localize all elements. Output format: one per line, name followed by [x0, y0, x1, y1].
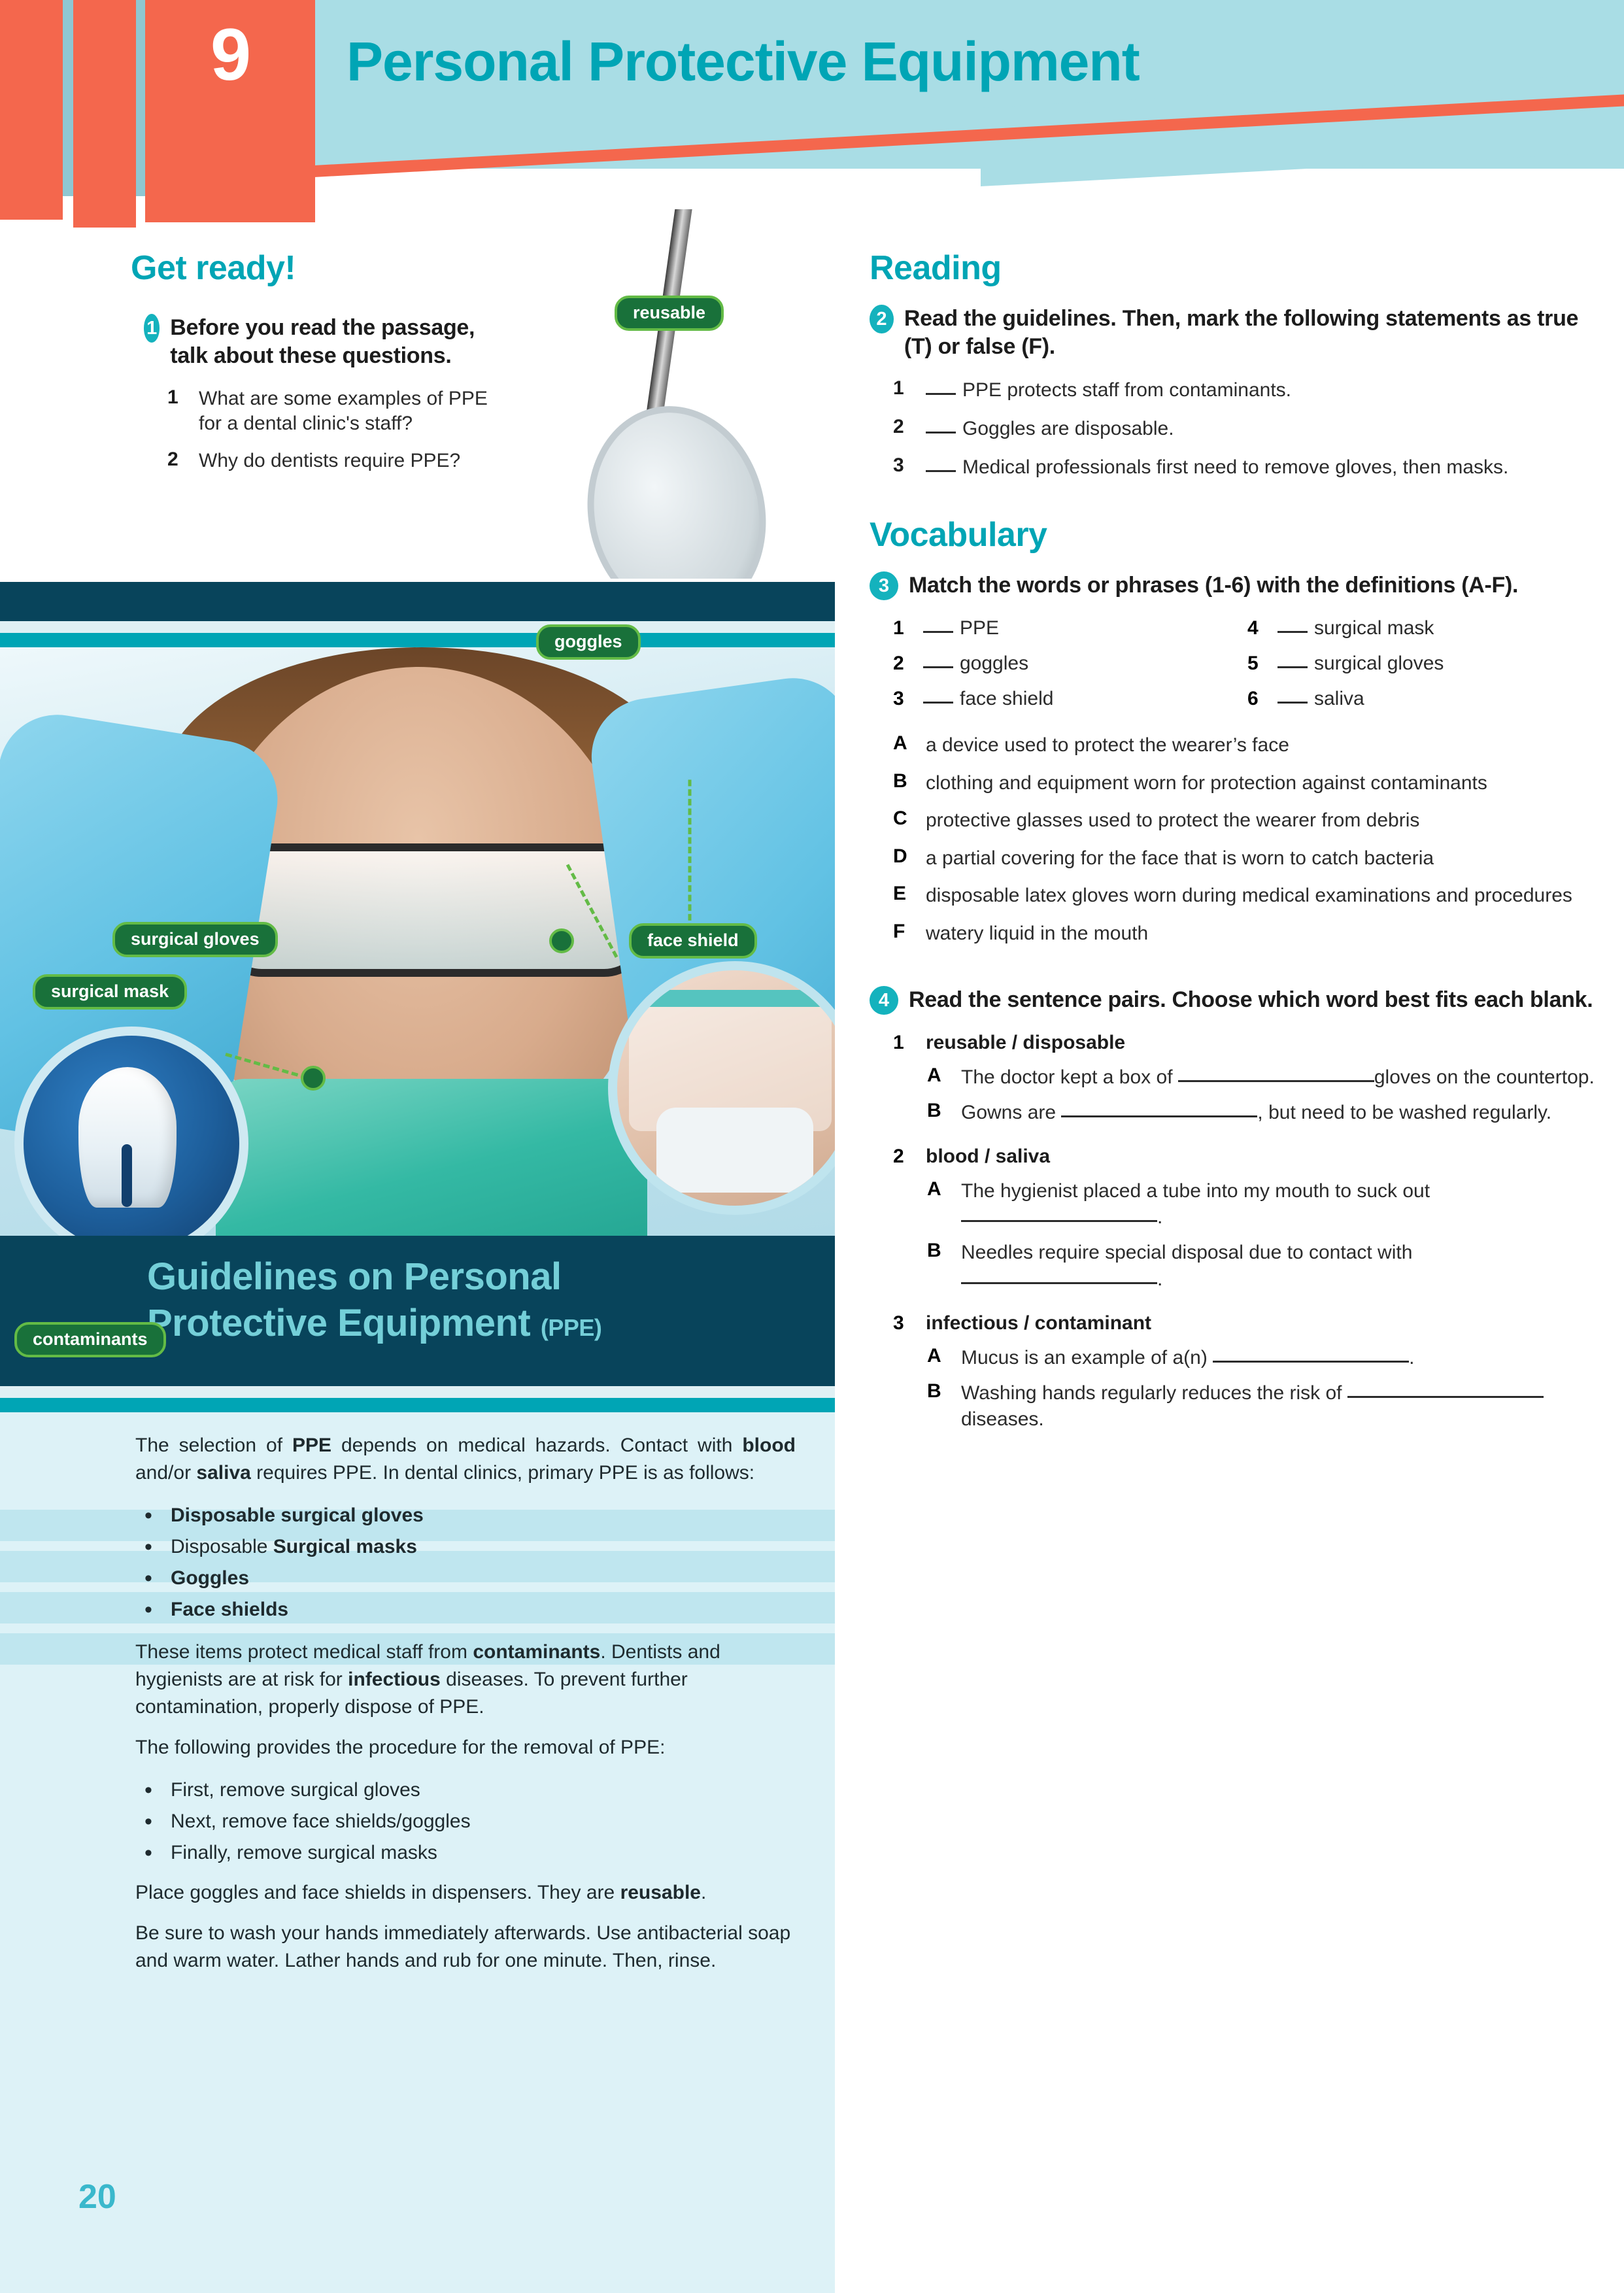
- vocabulary-terms: 1PPE 2goggles 3face shield 4surgical mas…: [893, 617, 1602, 723]
- passage-paragraph-2: These items protect medical staff from c…: [135, 1639, 796, 1721]
- tag-face-shield: face shield: [629, 923, 757, 959]
- pale-divider-bar: [0, 621, 835, 633]
- answer-blank[interactable]: [961, 1220, 1157, 1222]
- term-number: 1: [893, 617, 909, 639]
- decorative-stripe-1: [0, 0, 63, 220]
- sub-key: A: [927, 1178, 944, 1231]
- definition-text: protective glasses used to protect the w…: [926, 807, 1419, 834]
- list-item: 4surgical mask: [1247, 617, 1602, 639]
- tag-goggles: goggles: [536, 624, 641, 660]
- leader-dot-surgical-mask: [301, 1066, 326, 1091]
- definition-text: a partial covering for the face that is …: [926, 845, 1434, 872]
- answer-blank[interactable]: [1277, 666, 1308, 668]
- definition-text: watery liquid in the mouth: [926, 921, 1148, 947]
- tag-surgical-mask: surgical mask: [33, 974, 187, 1010]
- sub-key: B: [927, 1380, 944, 1433]
- mirror-head: [568, 390, 786, 579]
- statement-text: Medical professionals first need to remo…: [962, 456, 1508, 478]
- definition-text: disposable latex gloves worn during medi…: [926, 883, 1572, 909]
- exercise-2-instruction: Read the guidelines. Then, mark the foll…: [904, 305, 1602, 360]
- passage-paragraph-5: Be sure to wash your hands immediately a…: [135, 1920, 796, 1975]
- definition-key: E: [893, 883, 909, 909]
- sentence-post: .: [1157, 1268, 1162, 1290]
- list-item: Face shields: [135, 1594, 796, 1625]
- sentence-pairs: 1reusable / disposable AThe doctor kept …: [893, 1032, 1602, 1433]
- sub-key: A: [927, 1064, 944, 1091]
- primary-ppe-list: Disposable surgical gloves Disposable Su…: [135, 1500, 796, 1625]
- answer-blank[interactable]: [923, 666, 953, 668]
- term-text: goggles: [960, 653, 1028, 674]
- reading-exercise: 2 Read the guidelines. Then, mark the fo…: [870, 305, 1602, 360]
- teal-divider-bar: [0, 633, 835, 647]
- banner-pale-rule: [0, 1386, 835, 1398]
- term-number: 4: [1247, 617, 1263, 639]
- exercise-4: 4 Read the sentence pairs. Choose which …: [870, 986, 1602, 1015]
- banner-line-2: Protective Equipment: [147, 1302, 530, 1344]
- statement-number: 1: [893, 377, 909, 403]
- list-item: Next, remove face shields/goggles: [135, 1806, 796, 1837]
- list-item: 1 What are some examples of PPE for a de…: [144, 386, 497, 437]
- answer-blank[interactable]: [1277, 631, 1308, 633]
- banner-abbrev: (PPE): [541, 1314, 602, 1341]
- statement-text: PPE protects staff from contaminants.: [962, 379, 1291, 401]
- stripe-shadow-1: [63, 0, 73, 196]
- banner-teal-rule: [0, 1398, 835, 1412]
- exercise-badge-4: 4: [870, 986, 898, 1015]
- list-item: 3 Medical professionals first need to re…: [893, 454, 1602, 480]
- list-item: First, remove surgical gloves: [135, 1775, 796, 1806]
- answer-blank[interactable]: [1347, 1396, 1544, 1398]
- sentence-pair: 1reusable / disposable AThe doctor kept …: [893, 1032, 1602, 1126]
- sentence-pre: Gowns are: [961, 1102, 1061, 1123]
- definition-key: F: [893, 921, 909, 947]
- term-text: PPE: [960, 617, 999, 639]
- list-item: Edisposable latex gloves worn during med…: [893, 883, 1602, 909]
- question-number: 1: [167, 386, 182, 437]
- list-item: Aa device used to protect the wearer’s f…: [893, 732, 1602, 758]
- answer-blank[interactable]: [926, 393, 956, 395]
- get-ready-question-list: 1 What are some examples of PPE for a de…: [144, 386, 497, 473]
- passage-paragraph-3: The following provides the procedure for…: [135, 1734, 796, 1761]
- photo-tooth: [78, 1067, 177, 1208]
- definition-text: clothing and equipment worn for protecti…: [926, 770, 1487, 796]
- answer-blank[interactable]: [1061, 1115, 1257, 1117]
- passage-paragraph-1: The selection of PPE depends on medical …: [135, 1432, 796, 1487]
- sub-key: A: [927, 1345, 944, 1371]
- exercise-4-instruction: Read the sentence pairs. Choose which wo…: [909, 986, 1593, 1014]
- term-text: surgical gloves: [1314, 653, 1444, 674]
- page-number: 20: [78, 2177, 116, 2217]
- term-number: 2: [893, 653, 909, 675]
- decorative-stripe-2: [73, 0, 136, 228]
- tag-contaminants: contaminants: [14, 1322, 166, 1357]
- sentence-post: diseases.: [961, 1408, 1044, 1430]
- answer-blank[interactable]: [926, 470, 956, 472]
- sentence-pre: Needles require special disposal due to …: [961, 1242, 1412, 1263]
- guidelines-passage: The selection of PPE depends on medical …: [135, 1432, 796, 1988]
- tag-surgical-gloves: surgical gloves: [112, 922, 278, 957]
- pair-number: 3: [893, 1312, 909, 1334]
- sub-key: B: [927, 1100, 944, 1126]
- tag-reusable: reusable: [615, 296, 724, 331]
- vocabulary-exercise: 3 Match the words or phrases (1-6) with …: [870, 571, 1602, 600]
- get-ready-exercise: 1 Before you read the passage, talk abou…: [144, 314, 497, 485]
- sentence-post: .: [1409, 1347, 1414, 1368]
- question-text: What are some examples of PPE for a dent…: [199, 386, 497, 437]
- answer-blank[interactable]: [961, 1282, 1157, 1284]
- statement-number: 3: [893, 454, 909, 480]
- dark-divider-bar: [0, 582, 835, 621]
- list-item: 1PPE: [893, 617, 1247, 639]
- pair-number: 1: [893, 1032, 909, 1054]
- terms-column-left: 1PPE 2goggles 3face shield: [893, 617, 1247, 723]
- sentence-pre: The doctor kept a box of: [961, 1066, 1178, 1088]
- statement-text: Goggles are disposable.: [962, 418, 1174, 439]
- photo-surgical-mask: [216, 1079, 647, 1236]
- right-column: Reading 2 Read the guidelines. Then, mar…: [870, 0, 1602, 1452]
- definition-key: B: [893, 770, 909, 796]
- sentence-pre: Mucus is an example of a(n): [961, 1347, 1213, 1368]
- term-text: surgical mask: [1314, 617, 1434, 639]
- sentence-pair: 2blood / saliva AThe hygienist placed a …: [893, 1146, 1602, 1293]
- definition-key: D: [893, 845, 909, 872]
- list-item: 3face shield: [893, 688, 1247, 710]
- list-item: Disposable surgical gloves: [135, 1500, 796, 1531]
- banner-line-1: Guidelines on Personal: [147, 1255, 562, 1298]
- guidelines-banner-title: Guidelines on Personal Protective Equipm…: [147, 1254, 807, 1347]
- sentence-pair: 3infectious / contaminant AMucus is an e…: [893, 1312, 1602, 1433]
- get-ready-heading: Get ready!: [131, 248, 296, 288]
- list-item: 6saliva: [1247, 688, 1602, 710]
- term-number: 5: [1247, 653, 1263, 675]
- removal-procedure-list: First, remove surgical gloves Next, remo…: [135, 1775, 796, 1869]
- sub-key: B: [927, 1240, 944, 1292]
- list-item: Da partial covering for the face that is…: [893, 845, 1602, 872]
- pair-number: 2: [893, 1146, 909, 1168]
- exercise-1-instruction: Before you read the passage, talk about …: [170, 314, 497, 369]
- reading-heading: Reading: [870, 248, 1602, 288]
- statement-number: 2: [893, 416, 909, 441]
- definition-key: C: [893, 807, 909, 834]
- sentence-post: .: [1157, 1206, 1162, 1228]
- answer-blank[interactable]: [926, 432, 956, 433]
- term-number: 3: [893, 688, 909, 710]
- list-item: 2 Why do dentists require PPE?: [144, 449, 497, 473]
- term-number: 6: [1247, 688, 1263, 710]
- definition-key: A: [893, 732, 909, 758]
- passage-paragraph-4: Place goggles and face shields in dispen…: [135, 1879, 796, 1907]
- ppe-photo-band: [0, 582, 835, 1236]
- question-number: 2: [167, 449, 182, 473]
- exercise-badge-2: 2: [870, 305, 894, 333]
- exercise-badge-3: 3: [870, 571, 898, 600]
- list-item: Disposable Surgical masks: [135, 1531, 796, 1563]
- true-false-statements: 1 PPE protects staff from contaminants. …: [893, 377, 1602, 480]
- list-item: Bclothing and equipment worn for protect…: [893, 770, 1602, 796]
- answer-blank[interactable]: [923, 702, 953, 704]
- pair-word-choices: reusable / disposable: [926, 1032, 1125, 1054]
- answer-blank[interactable]: [923, 631, 953, 633]
- list-item: Fwatery liquid in the mouth: [893, 921, 1602, 947]
- dental-mirror-photo: [497, 209, 835, 579]
- sentence-post: gloves on the countertop.: [1374, 1066, 1595, 1088]
- list-item: 1 PPE protects staff from contaminants.: [893, 377, 1602, 403]
- leader-line-face-shield: [688, 780, 692, 930]
- list-item: 5surgical gloves: [1247, 653, 1602, 675]
- photo-inset-mask: [656, 1108, 813, 1193]
- definition-text: a device used to protect the wearer’s fa…: [926, 732, 1289, 758]
- photo-goggles: [216, 843, 650, 977]
- term-text: face shield: [960, 688, 1053, 709]
- leader-dot-goggles: [549, 928, 574, 953]
- sentence-pre: The hygienist placed a tube into my mout…: [961, 1180, 1430, 1202]
- list-item: Goggles: [135, 1563, 796, 1594]
- answer-blank[interactable]: [1178, 1080, 1374, 1082]
- answer-blank[interactable]: [1213, 1361, 1409, 1363]
- list-item: 2 Goggles are disposable.: [893, 416, 1602, 441]
- pair-word-choices: blood / saliva: [926, 1146, 1050, 1168]
- chapter-number: 9: [145, 18, 315, 92]
- vocabulary-definitions: Aa device used to protect the wearer’s f…: [893, 732, 1602, 947]
- terms-column-right: 4surgical mask 5surgical gloves 6saliva: [1247, 617, 1602, 723]
- sentence-pre: Washing hands regularly reduces the risk…: [961, 1382, 1347, 1404]
- list-item: Finally, remove surgical masks: [135, 1837, 796, 1869]
- vocabulary-heading: Vocabulary: [870, 515, 1602, 554]
- sentence-post: , but need to be washed regularly.: [1257, 1102, 1551, 1123]
- pair-word-choices: infectious / contaminant: [926, 1312, 1151, 1334]
- question-text: Why do dentists require PPE?: [199, 449, 460, 473]
- list-item: Cprotective glasses used to protect the …: [893, 807, 1602, 834]
- list-item: 2goggles: [893, 653, 1247, 675]
- exercise-badge-1: 1: [144, 314, 160, 343]
- answer-blank[interactable]: [1277, 702, 1308, 704]
- exercise-3-instruction: Match the words or phrases (1-6) with th…: [909, 571, 1518, 600]
- term-text: saliva: [1314, 688, 1364, 709]
